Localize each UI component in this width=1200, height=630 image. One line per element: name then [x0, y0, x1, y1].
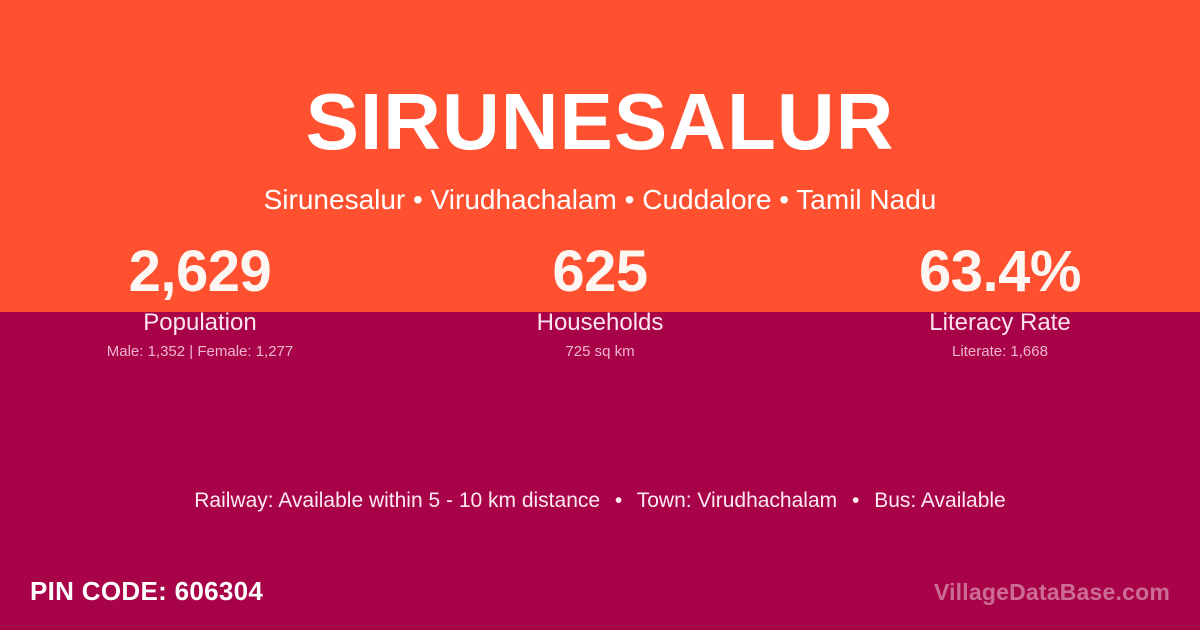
stat-households-sub: 725 sq km: [400, 344, 800, 360]
stat-literacy-rate: 63.4% Literacy Rate Literate: 1,668: [800, 242, 1200, 360]
pin-code: PIN CODE: 606304: [30, 578, 263, 604]
stat-literacy-rate-sub: Literate: 1,668: [800, 344, 1200, 360]
stat-literacy-rate-value: 63.4%: [800, 242, 1200, 301]
stat-population-value: 2,629: [0, 242, 400, 301]
breadcrumb: Sirunesalur • Virudhachalam • Cuddalore …: [0, 182, 1200, 218]
stat-population-label: Population: [0, 310, 400, 335]
stat-population: 2,629 Population Male: 1,352 | Female: 1…: [0, 242, 400, 360]
page-title: SIRUNESALUR: [0, 82, 1200, 162]
transport-info-line: Railway: Available within 5 - 10 km dist…: [0, 487, 1200, 514]
stat-households-label: Households: [400, 310, 800, 335]
info-separator-icon: •: [606, 487, 631, 514]
stat-population-sub: Male: 1,352 | Female: 1,277: [0, 344, 400, 360]
village-info-card: SIRUNESALUR Sirunesalur • Virudhachalam …: [0, 0, 1200, 630]
stat-households-value: 625: [400, 242, 800, 301]
info-town: Town: Virudhachalam: [637, 489, 837, 512]
info-bus: Bus: Available: [874, 489, 1006, 512]
info-separator-icon: •: [843, 487, 868, 514]
site-brand: VillageDataBase.com: [934, 581, 1170, 604]
stats-row: 2,629 Population Male: 1,352 | Female: 1…: [0, 242, 1200, 360]
stat-literacy-rate-label: Literacy Rate: [800, 310, 1200, 335]
stat-households: 625 Households 725 sq km: [400, 242, 800, 360]
info-railway: Railway: Available within 5 - 10 km dist…: [194, 489, 600, 512]
